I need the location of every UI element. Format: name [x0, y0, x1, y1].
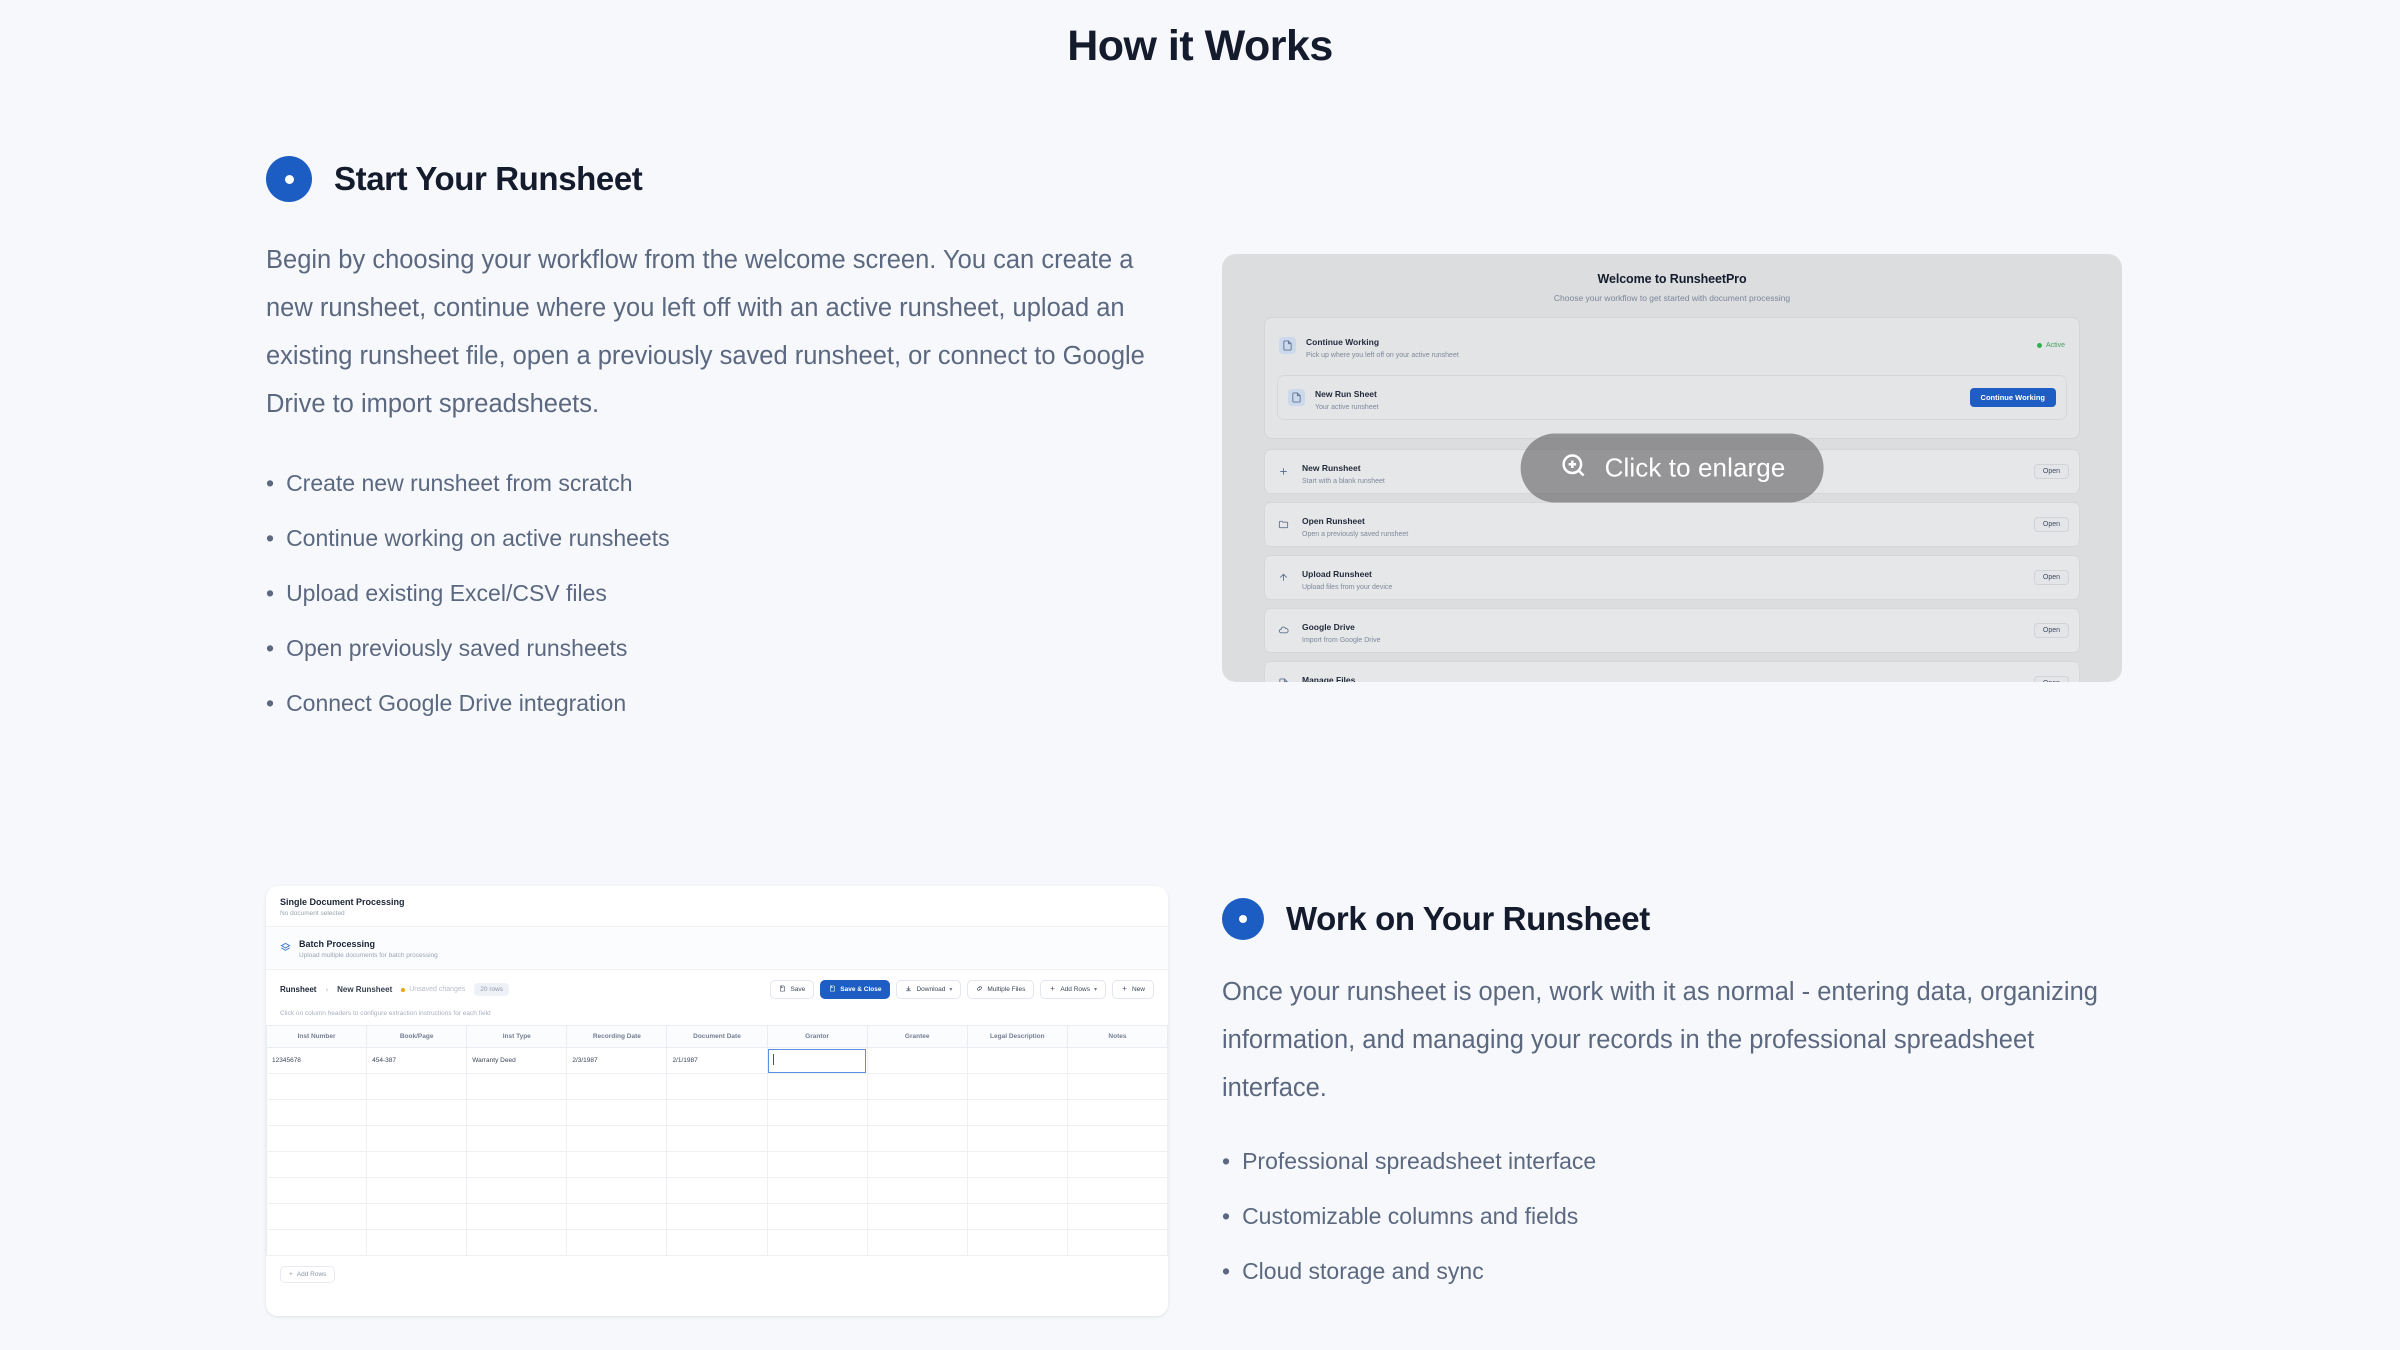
active-cell[interactable] [767, 1048, 867, 1074]
file-icon [1288, 389, 1305, 406]
runsheet-toolbar: Runsheet › New Runsheet Unsaved changes … [266, 970, 1168, 1003]
layers-icon [280, 940, 291, 951]
workflow-row-desc: Upload files from your device [1302, 584, 2024, 591]
list-item-label: Continue working on active runsheets [286, 511, 670, 566]
table-cell[interactable] [267, 1230, 367, 1256]
table-cell[interactable] [1067, 1178, 1167, 1204]
workflow-row-text: Upload Runsheet Upload files from your d… [1302, 564, 2024, 591]
table-cell[interactable] [467, 1230, 567, 1256]
active-runsheet-desc: Your active runsheet [1315, 404, 1960, 411]
workflow-row-google-drive[interactable]: Google Drive Import from Google Drive Op… [1264, 608, 2080, 653]
table-cell[interactable] [667, 1204, 767, 1230]
table-cell[interactable] [967, 1048, 1067, 1074]
list-item: •Upload existing Excel/CSV files [266, 566, 1166, 621]
table-cell[interactable] [967, 1152, 1067, 1178]
status-badge: Active [2037, 342, 2065, 349]
table-row [267, 1100, 1168, 1126]
table-cell[interactable] [967, 1074, 1067, 1100]
save-icon [779, 985, 786, 994]
column-header-inst-number[interactable]: Inst Number [267, 1026, 367, 1048]
table-cell[interactable] [467, 1074, 567, 1100]
welcome-screenshot-card[interactable]: Welcome to RunsheetPro Choose your workf… [1222, 254, 2122, 682]
column-header-notes[interactable]: Notes [1067, 1026, 1167, 1048]
bullet-marker-icon: • [266, 676, 274, 731]
unsaved-changes-badge: Unsaved changes [401, 986, 465, 993]
workflow-row-open-runsheet[interactable]: Open Runsheet Open a previously saved ru… [1264, 502, 2080, 547]
table-cell[interactable] [767, 1204, 867, 1230]
table-cell[interactable] [367, 1126, 467, 1152]
column-hint-text: Click on column headers to configure ext… [266, 1003, 1168, 1025]
table-cell[interactable] [767, 1100, 867, 1126]
table-row [267, 1230, 1168, 1256]
table-cell[interactable] [867, 1204, 967, 1230]
card-bottom-fade [266, 1290, 1168, 1316]
table-cell[interactable] [267, 1074, 367, 1100]
plus-icon [1049, 985, 1056, 994]
open-button[interactable]: Open [2034, 623, 2069, 638]
folder-icon [1275, 516, 1292, 533]
download-button[interactable]: Download ▾ [896, 980, 961, 999]
table-cell[interactable] [867, 1230, 967, 1256]
list-item: •Create new runsheet from scratch [266, 456, 1166, 511]
table-row [267, 1178, 1168, 1204]
single-doc-title: Single Document Processing [280, 897, 1154, 907]
table-cell[interactable] [267, 1178, 367, 1204]
list-item-label: Professional spreadsheet interface [1242, 1134, 1596, 1189]
new-button[interactable]: New [1112, 980, 1154, 999]
table-cell[interactable] [467, 1100, 567, 1126]
table-cell[interactable] [767, 1074, 867, 1100]
open-button[interactable]: Open [2034, 464, 2069, 479]
column-header-recording-date[interactable]: Recording Date [567, 1026, 667, 1048]
bullet-marker-icon: • [266, 621, 274, 676]
welcome-mock-subtitle: Choose your workflow to get started with… [1264, 293, 2080, 303]
bullet-marker-icon: • [266, 511, 274, 566]
workflow-row-title: Google Drive [1302, 622, 1355, 632]
table-cell[interactable] [867, 1178, 967, 1204]
breadcrumb-current: New Runsheet [337, 985, 392, 994]
chevron-down-icon: ▾ [949, 986, 952, 993]
table-cell[interactable]: 2/3/1987 [567, 1048, 667, 1074]
list-item-label: Open previously saved runsheets [286, 621, 627, 676]
list-item-label: Connect Google Drive integration [286, 676, 626, 731]
table-cell[interactable]: 2/1/1987 [667, 1048, 767, 1074]
section-work-on-your-runsheet: Work on Your Runsheet Once your runsheet… [1222, 898, 2122, 1299]
download-button-label: Download [916, 986, 945, 993]
table-footer: + Add Rows [266, 1256, 1168, 1290]
save-button[interactable]: Save [770, 980, 814, 999]
badge-dot-icon [1239, 915, 1247, 923]
section-title: Start Your Runsheet [334, 160, 642, 198]
section-start-your-runsheet: Start Your Runsheet Begin by choosing yo… [266, 156, 1166, 731]
step-badge-icon [1222, 898, 1264, 940]
list-item-label: Cloud storage and sync [1242, 1244, 1484, 1299]
table-cell[interactable] [1067, 1152, 1167, 1178]
save-and-close-label: Save & Close [840, 986, 881, 993]
table-cell[interactable] [667, 1100, 767, 1126]
welcome-mock-title: Welcome to RunsheetPro [1264, 272, 2080, 286]
table-cell[interactable] [367, 1100, 467, 1126]
continue-working-row[interactable]: Continue Working Pick up where you left … [1277, 328, 2067, 367]
table-cell[interactable] [867, 1126, 967, 1152]
table-cell[interactable] [567, 1178, 667, 1204]
how-it-works-page: How it Works Start Your Runsheet Begin b… [0, 0, 2400, 1350]
table-cell[interactable] [567, 1126, 667, 1152]
runsheet-table: Inst Number Book/Page Inst Type Recordin… [266, 1025, 1168, 1256]
add-rows-label: Add Rows [1060, 986, 1090, 993]
column-header-inst-type[interactable]: Inst Type [467, 1026, 567, 1048]
table-row [267, 1126, 1168, 1152]
table-cell[interactable] [467, 1152, 567, 1178]
list-item: •Cloud storage and sync [1222, 1244, 2122, 1299]
table-cell[interactable] [1067, 1126, 1167, 1152]
add-rows-footer-label: Add Rows [297, 1271, 327, 1278]
workflow-row-text: Manage Files Organize and manage your up… [1302, 670, 2024, 682]
table-row [267, 1204, 1168, 1230]
plus-icon [1275, 463, 1292, 480]
table-cell[interactable] [867, 1152, 967, 1178]
table-cell[interactable] [767, 1126, 867, 1152]
bullet-marker-icon: • [266, 566, 274, 621]
table-cell[interactable] [667, 1126, 767, 1152]
bullet-marker-icon: • [266, 456, 274, 511]
table-cell[interactable] [367, 1178, 467, 1204]
plus-icon [1121, 985, 1128, 994]
section-heading-row: Start Your Runsheet [266, 156, 1166, 202]
table-cell[interactable]: 12345678 [267, 1048, 367, 1074]
section-paragraph: Once your runsheet is open, work with it… [1222, 968, 2102, 1112]
table-cell[interactable] [1067, 1048, 1167, 1074]
click-to-enlarge-overlay[interactable]: Click to enlarge [1521, 434, 1824, 503]
table-cell[interactable] [367, 1152, 467, 1178]
plus-icon: + [289, 1271, 293, 1278]
table-cell[interactable] [667, 1074, 767, 1100]
section-paragraph: Begin by choosing your workflow from the… [266, 236, 1156, 428]
download-icon [905, 985, 912, 994]
rows-count-badge: 20 rows [474, 983, 509, 996]
text-caret-icon [773, 1054, 774, 1065]
section-bullet-list: •Create new runsheet from scratch •Conti… [266, 456, 1166, 731]
table-cell[interactable] [667, 1152, 767, 1178]
list-item: •Connect Google Drive integration [266, 676, 1166, 731]
table-cell[interactable] [967, 1230, 1067, 1256]
table-cell[interactable] [967, 1204, 1067, 1230]
breadcrumb-root[interactable]: Runsheet [280, 985, 316, 994]
single-document-processing-panel: Single Document Processing No document s… [266, 886, 1168, 927]
list-item: •Customizable columns and fields [1222, 1189, 2122, 1244]
table-cell[interactable] [667, 1230, 767, 1256]
table-cell[interactable] [567, 1204, 667, 1230]
continue-working-title: Continue Working [1306, 337, 1379, 347]
zoom-in-icon [1559, 451, 1589, 486]
table-row [267, 1074, 1168, 1100]
table-cell[interactable] [967, 1100, 1067, 1126]
continue-working-panel: Continue Working Pick up where you left … [1264, 317, 2080, 439]
column-header-book-page[interactable]: Book/Page [367, 1026, 467, 1048]
workflow-row-desc: Import from Google Drive [1302, 637, 2024, 644]
list-item-label: Create new runsheet from scratch [286, 456, 632, 511]
workflow-row-upload-runsheet[interactable]: Upload Runsheet Upload files from your d… [1264, 555, 2080, 600]
new-button-label: New [1132, 986, 1145, 993]
list-item: •Open previously saved runsheets [266, 621, 1166, 676]
table-cell[interactable] [1067, 1074, 1167, 1100]
toolbar-actions: Save Save & Close Download ▾ Multiple Fi… [770, 980, 1154, 999]
workflow-row-title: Open Runsheet [1302, 516, 1365, 526]
continue-working-button[interactable]: Continue Working [1970, 388, 2056, 407]
breadcrumb-separator: › [325, 985, 328, 994]
table-cell[interactable] [767, 1152, 867, 1178]
table-cell[interactable]: Warranty Deed [467, 1048, 567, 1074]
active-runsheet-row[interactable]: New Run Sheet Your active runsheet Conti… [1277, 375, 2067, 420]
table-cell[interactable]: 454-387 [367, 1048, 467, 1074]
table-cell[interactable] [567, 1074, 667, 1100]
bullet-marker-icon: • [1222, 1134, 1230, 1189]
add-rows-footer-button[interactable]: + Add Rows [280, 1266, 335, 1283]
list-item: •Professional spreadsheet interface [1222, 1134, 2122, 1189]
list-item-label: Upload existing Excel/CSV files [286, 566, 607, 621]
table-cell[interactable] [867, 1074, 967, 1100]
batch-subtitle: Upload multiple documents for batch proc… [299, 952, 438, 959]
step-badge-icon [266, 156, 312, 202]
open-button[interactable]: Open [2034, 570, 2069, 585]
workflow-row-title: Manage Files [1302, 675, 1355, 682]
workflow-row-text: Open Runsheet Open a previously saved ru… [1302, 511, 2024, 538]
list-item: •Continue working on active runsheets [266, 511, 1166, 566]
batch-processing-panel[interactable]: Batch Processing Upload multiple documen… [266, 927, 1168, 970]
workflow-row-desc: Open a previously saved runsheet [1302, 531, 2024, 538]
table-cell[interactable] [567, 1100, 667, 1126]
unsaved-dot-icon [401, 988, 405, 992]
table-cell[interactable] [767, 1178, 867, 1204]
workflow-row-title: Upload Runsheet [1302, 569, 1372, 579]
table-cell[interactable] [1067, 1100, 1167, 1126]
batch-title: Batch Processing [299, 939, 438, 949]
badge-dot-icon [285, 175, 294, 184]
upload-icon [1275, 569, 1292, 586]
table-cell[interactable] [467, 1178, 567, 1204]
column-header-grantor[interactable]: Grantor [767, 1026, 867, 1048]
section-title: Work on Your Runsheet [1286, 900, 1650, 938]
spreadsheet-screenshot-card[interactable]: Single Document Processing No document s… [266, 886, 1168, 1316]
column-header-document-date[interactable]: Document Date [667, 1026, 767, 1048]
workflow-row-title: New Runsheet [1302, 463, 1361, 473]
list-item-label: Customizable columns and fields [1242, 1189, 1578, 1244]
table-cell[interactable] [267, 1126, 367, 1152]
cloud-icon [1275, 622, 1292, 639]
workflow-row-manage-files[interactable]: Manage Files Organize and manage your up… [1264, 661, 2080, 682]
table-cell[interactable] [667, 1178, 767, 1204]
table-cell[interactable] [1067, 1230, 1167, 1256]
column-header-grantee[interactable]: Grantee [867, 1026, 967, 1048]
table-cell[interactable] [567, 1152, 667, 1178]
table-row: 12345678 454-387 Warranty Deed 2/3/1987 … [267, 1048, 1168, 1074]
chevron-down-icon: ▾ [1094, 986, 1097, 993]
open-button[interactable]: Open [2034, 517, 2069, 532]
table-cell[interactable] [967, 1126, 1067, 1152]
save-and-close-button[interactable]: Save & Close [820, 980, 890, 999]
open-button[interactable]: Open [2034, 676, 2069, 682]
column-header-legal-description[interactable]: Legal Description [967, 1026, 1067, 1048]
table-row [267, 1152, 1168, 1178]
continue-working-desc: Pick up where you left off on your activ… [1306, 352, 2027, 359]
active-runsheet-text: New Run Sheet Your active runsheet [1315, 384, 1960, 411]
bullet-marker-icon: • [1222, 1244, 1230, 1299]
save-button-label: Save [790, 986, 805, 993]
click-to-enlarge-label: Click to enlarge [1605, 453, 1786, 484]
table-cell[interactable] [467, 1126, 567, 1152]
unsaved-changes-label: Unsaved changes [409, 986, 465, 993]
table-cell[interactable] [367, 1204, 467, 1230]
table-cell[interactable] [367, 1230, 467, 1256]
link-icon [976, 985, 983, 994]
status-badge-label: Active [2046, 342, 2065, 349]
table-cell[interactable] [467, 1204, 567, 1230]
save-icon [829, 985, 836, 994]
multiple-files-label: Multiple Files [987, 986, 1025, 993]
file-icon [1279, 337, 1296, 354]
table-cell[interactable] [267, 1100, 367, 1126]
bullet-marker-icon: • [1222, 1189, 1230, 1244]
table-cell[interactable] [1067, 1204, 1167, 1230]
section-bullet-list: •Professional spreadsheet interface •Cus… [1222, 1134, 2122, 1299]
single-doc-subtitle: No document selected [280, 910, 1154, 917]
active-runsheet-title: New Run Sheet [1315, 389, 1377, 399]
table-header-row: Inst Number Book/Page Inst Type Recordin… [267, 1026, 1168, 1048]
table-cell[interactable] [267, 1204, 367, 1230]
table-cell[interactable] [867, 1048, 967, 1074]
status-dot-icon [2037, 343, 2042, 348]
file-icon [1275, 675, 1292, 682]
continue-working-text: Continue Working Pick up where you left … [1306, 332, 2027, 359]
section-heading-row: Work on Your Runsheet [1222, 898, 2122, 940]
workflow-row-text: Google Drive Import from Google Drive [1302, 617, 2024, 644]
table-cell[interactable] [367, 1074, 467, 1100]
table-cell[interactable] [267, 1152, 367, 1178]
multiple-files-button[interactable]: Multiple Files [967, 980, 1034, 999]
table-cell[interactable] [867, 1100, 967, 1126]
add-rows-button[interactable]: Add Rows ▾ [1040, 980, 1106, 999]
table-cell[interactable] [967, 1178, 1067, 1204]
table-cell[interactable] [767, 1230, 867, 1256]
page-title: How it Works [0, 22, 2400, 71]
table-cell[interactable] [567, 1230, 667, 1256]
batch-processing-text: Batch Processing Upload multiple documen… [299, 939, 438, 959]
